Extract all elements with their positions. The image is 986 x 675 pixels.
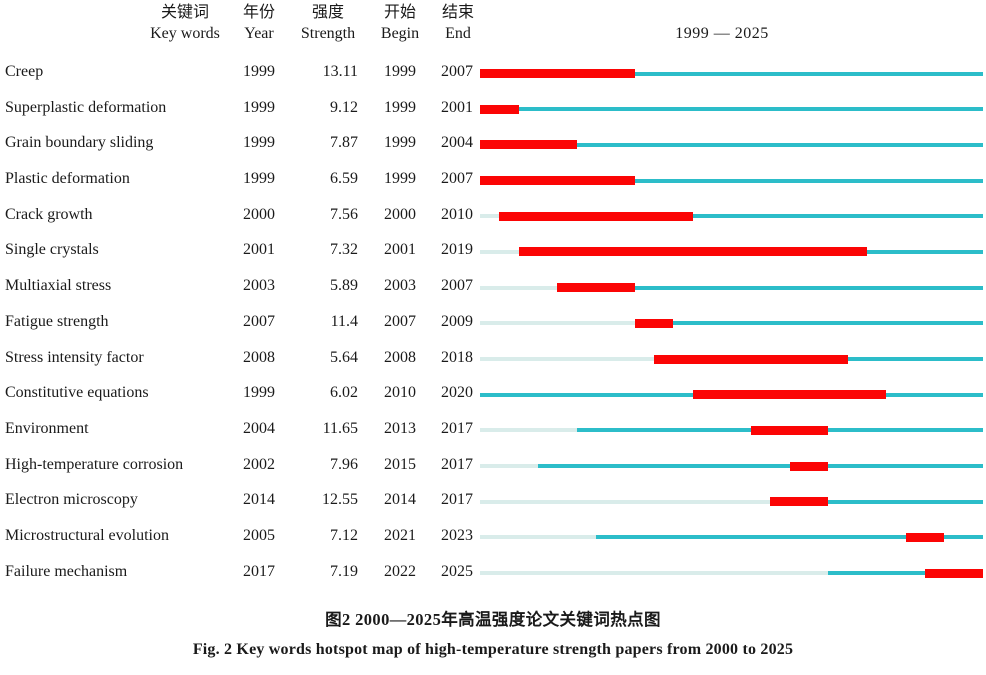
row-keyword: Failure mechanism bbox=[5, 561, 127, 583]
row-strength: 6.02 bbox=[286, 382, 358, 404]
row-year: 2003 bbox=[228, 275, 290, 297]
table-row: Failure mechanism20177.1920222025 bbox=[0, 558, 986, 594]
timeline-track bbox=[480, 143, 983, 147]
row-keyword: Single crystals bbox=[5, 239, 99, 261]
timeline-segment-inactive bbox=[480, 571, 828, 575]
timeline-track bbox=[480, 286, 983, 290]
row-keyword: Electron microscopy bbox=[5, 489, 138, 511]
table-row: Constitutive equations19996.0220102020 bbox=[0, 379, 986, 415]
row-year: 2014 bbox=[228, 489, 290, 511]
row-begin: 2000 bbox=[370, 204, 430, 226]
row-begin: 2013 bbox=[370, 418, 430, 440]
timeline-track bbox=[480, 107, 983, 111]
row-end: 2007 bbox=[430, 61, 484, 83]
row-strength: 7.19 bbox=[286, 561, 358, 583]
row-begin: 1999 bbox=[370, 168, 430, 190]
timeline-segment-active bbox=[480, 107, 983, 111]
table-row: Multiaxial stress20035.8920032007 bbox=[0, 272, 986, 308]
row-strength: 5.64 bbox=[286, 347, 358, 369]
timeline-track bbox=[480, 428, 983, 432]
timeline-segment-active bbox=[635, 321, 983, 325]
row-strength: 11.65 bbox=[286, 418, 358, 440]
timeline-track bbox=[480, 571, 983, 575]
row-begin: 1999 bbox=[370, 61, 430, 83]
row-strength: 13.11 bbox=[286, 61, 358, 83]
row-end: 2010 bbox=[430, 204, 484, 226]
table-row: Single crystals20017.3220012019 bbox=[0, 236, 986, 272]
row-end: 2007 bbox=[430, 275, 484, 297]
timeline-track bbox=[480, 250, 983, 254]
row-keyword: Constitutive equations bbox=[5, 382, 149, 404]
burst-segment bbox=[906, 533, 945, 542]
row-begin: 1999 bbox=[370, 97, 430, 119]
timeline-track bbox=[480, 500, 983, 504]
timeline-span-title: 1999 — 2025 bbox=[612, 24, 832, 44]
burst-segment bbox=[480, 176, 635, 185]
row-end: 2001 bbox=[430, 97, 484, 119]
row-year: 2001 bbox=[228, 239, 290, 261]
row-begin: 2015 bbox=[370, 454, 430, 476]
row-year: 2002 bbox=[228, 454, 290, 476]
table-row: Crack growth20007.5620002010 bbox=[0, 201, 986, 237]
timeline-track bbox=[480, 357, 983, 361]
row-begin: 2008 bbox=[370, 347, 430, 369]
row-strength: 7.96 bbox=[286, 454, 358, 476]
timeline-segment-inactive bbox=[480, 321, 635, 325]
row-year: 1999 bbox=[228, 382, 290, 404]
table-row: Fatigue strength200711.420072009 bbox=[0, 308, 986, 344]
row-strength: 11.4 bbox=[286, 311, 358, 333]
row-end: 2020 bbox=[430, 382, 484, 404]
row-strength: 9.12 bbox=[286, 97, 358, 119]
timeline-segment-active bbox=[538, 464, 983, 468]
row-begin: 2007 bbox=[370, 311, 430, 333]
row-year: 2008 bbox=[228, 347, 290, 369]
row-year: 2005 bbox=[228, 525, 290, 547]
row-end: 2007 bbox=[430, 168, 484, 190]
row-year: 1999 bbox=[228, 168, 290, 190]
timeline-track bbox=[480, 72, 983, 76]
burst-segment bbox=[770, 497, 828, 506]
header-year-cn: 年份 bbox=[228, 3, 290, 23]
figure-caption-cn: 图2 2000—2025年高温强度论文关键词热点图 bbox=[0, 606, 986, 630]
row-begin: 2022 bbox=[370, 561, 430, 583]
row-end: 2017 bbox=[430, 418, 484, 440]
burst-segment bbox=[925, 569, 983, 578]
timeline-segment-inactive bbox=[480, 286, 557, 290]
row-begin: 2001 bbox=[370, 239, 430, 261]
burst-segment bbox=[635, 319, 674, 328]
table-row: Microstructural evolution20057.122021202… bbox=[0, 522, 986, 558]
row-strength: 7.87 bbox=[286, 132, 358, 154]
row-year: 2000 bbox=[228, 204, 290, 226]
row-keyword: Grain boundary sliding bbox=[5, 132, 153, 154]
timeline-segment-inactive bbox=[480, 535, 596, 539]
header-begin-en: Begin bbox=[370, 24, 430, 44]
timeline-segment-inactive bbox=[480, 250, 519, 254]
burst-segment bbox=[751, 426, 828, 435]
timeline-track bbox=[480, 214, 983, 218]
burst-segment bbox=[480, 105, 519, 114]
row-end: 2018 bbox=[430, 347, 484, 369]
row-begin: 2010 bbox=[370, 382, 430, 404]
row-strength: 12.55 bbox=[286, 489, 358, 511]
row-keyword: Creep bbox=[5, 61, 43, 83]
burst-segment bbox=[693, 390, 886, 399]
header-end-en: End bbox=[432, 24, 484, 44]
row-keyword: Superplastic deformation bbox=[5, 97, 166, 119]
table-row: Plastic deformation19996.5919992007 bbox=[0, 165, 986, 201]
row-strength: 7.12 bbox=[286, 525, 358, 547]
row-begin: 2014 bbox=[370, 489, 430, 511]
table-row: Grain boundary sliding19997.8719992004 bbox=[0, 129, 986, 165]
burst-segment bbox=[499, 212, 692, 221]
header-strength-cn: 强度 bbox=[292, 3, 364, 23]
timeline-track bbox=[480, 321, 983, 325]
timeline-segment-inactive bbox=[480, 214, 499, 218]
row-keyword: Environment bbox=[5, 418, 89, 440]
row-end: 2009 bbox=[430, 311, 484, 333]
row-year: 2007 bbox=[228, 311, 290, 333]
row-keyword: Stress intensity factor bbox=[5, 347, 144, 369]
timeline-segment-inactive bbox=[480, 500, 770, 504]
row-strength: 7.56 bbox=[286, 204, 358, 226]
row-end: 2017 bbox=[430, 454, 484, 476]
timeline-segment-inactive bbox=[480, 357, 654, 361]
row-keyword: High-temperature corrosion bbox=[5, 454, 183, 476]
burst-segment bbox=[790, 462, 829, 471]
row-keyword: Fatigue strength bbox=[5, 311, 109, 333]
timeline-track bbox=[480, 535, 983, 539]
header-year-en: Year bbox=[228, 24, 290, 44]
table-row: Creep199913.1119992007 bbox=[0, 58, 986, 94]
row-strength: 7.32 bbox=[286, 239, 358, 261]
burst-segment bbox=[654, 355, 847, 364]
row-strength: 5.89 bbox=[286, 275, 358, 297]
row-year: 1999 bbox=[228, 61, 290, 83]
header-strength-en: Strength bbox=[292, 24, 364, 44]
figure-caption-en: Fig. 2 Key words hotspot map of high-tem… bbox=[0, 641, 986, 659]
row-end: 2019 bbox=[430, 239, 484, 261]
row-year: 1999 bbox=[228, 132, 290, 154]
row-keyword: Plastic deformation bbox=[5, 168, 130, 190]
burst-segment bbox=[480, 69, 635, 78]
table-row: Superplastic deformation19999.1219992001 bbox=[0, 94, 986, 130]
row-begin: 1999 bbox=[370, 132, 430, 154]
row-begin: 2021 bbox=[370, 525, 430, 547]
timeline-track bbox=[480, 179, 983, 183]
table-row: High-temperature corrosion20027.96201520… bbox=[0, 451, 986, 487]
timeline-track bbox=[480, 393, 983, 397]
row-end: 2017 bbox=[430, 489, 484, 511]
burst-detection-figure: 关键词 年份 强度 开始 结束 Key words Year Strength … bbox=[0, 0, 986, 675]
table-row: Stress intensity factor20085.6420082018 bbox=[0, 344, 986, 380]
row-end: 2025 bbox=[430, 561, 484, 583]
burst-segment bbox=[480, 140, 577, 149]
row-keyword: Crack growth bbox=[5, 204, 93, 226]
row-end: 2004 bbox=[430, 132, 484, 154]
table-row: Environment200411.6520132017 bbox=[0, 415, 986, 451]
header-begin-cn: 开始 bbox=[370, 3, 430, 23]
table-body: Creep199913.1119992007Superplastic defor… bbox=[0, 58, 986, 593]
row-keyword: Microstructural evolution bbox=[5, 525, 169, 547]
row-keyword: Multiaxial stress bbox=[5, 275, 111, 297]
table-header: 关键词 年份 强度 开始 结束 Key words Year Strength … bbox=[0, 0, 986, 58]
timeline-segment-inactive bbox=[480, 428, 577, 432]
row-year: 2004 bbox=[228, 418, 290, 440]
burst-segment bbox=[519, 247, 867, 256]
timeline-track bbox=[480, 464, 983, 468]
burst-segment bbox=[557, 283, 634, 292]
table-row: Electron microscopy201412.5520142017 bbox=[0, 486, 986, 522]
header-end-cn: 结束 bbox=[432, 3, 484, 23]
row-begin: 2003 bbox=[370, 275, 430, 297]
row-strength: 6.59 bbox=[286, 168, 358, 190]
row-year: 1999 bbox=[228, 97, 290, 119]
row-end: 2023 bbox=[430, 525, 484, 547]
row-year: 2017 bbox=[228, 561, 290, 583]
timeline-segment-inactive bbox=[480, 464, 538, 468]
